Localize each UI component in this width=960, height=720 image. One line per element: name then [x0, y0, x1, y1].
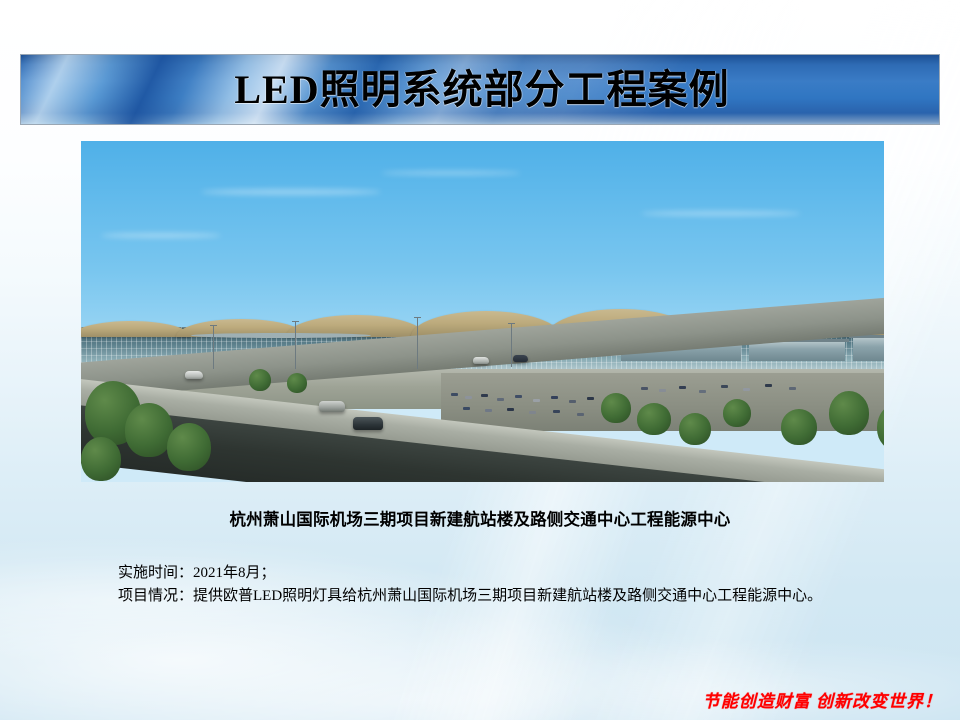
foreground-car: [319, 401, 345, 412]
body-text-block: 实施时间：2021年8月； 项目情况：提供欧普LED照明灯具给杭州萧山国际机场三…: [88, 562, 878, 608]
tree: [781, 409, 817, 445]
parked-car: [485, 409, 492, 412]
parked-car: [553, 410, 560, 413]
page-title: LED照明系统部分工程案例: [21, 70, 939, 110]
parked-car: [497, 398, 504, 401]
parked-car: [765, 384, 772, 387]
parked-car: [679, 386, 686, 389]
parked-car: [587, 397, 594, 400]
foreground-car: [473, 357, 489, 364]
parked-car: [721, 385, 728, 388]
foreground-car: [185, 371, 203, 379]
parked-car: [451, 393, 458, 396]
parked-car: [743, 388, 750, 391]
title-banner: LED照明系统部分工程案例: [20, 54, 940, 125]
parked-car: [463, 407, 470, 410]
entrance-canopy: [191, 333, 371, 338]
tree: [723, 399, 751, 427]
cloud-wisp: [641, 211, 801, 216]
cloud-wisp: [381, 171, 521, 175]
light-pole: [417, 317, 418, 369]
parked-car: [529, 411, 536, 414]
tree: [287, 373, 307, 393]
parked-car: [515, 395, 522, 398]
parked-car: [507, 408, 514, 411]
parked-car: [569, 400, 576, 403]
photo-image: [81, 141, 884, 482]
tree: [679, 413, 711, 445]
parked-car: [551, 396, 558, 399]
cloud-wisp: [201, 189, 381, 195]
project-photo: [81, 141, 884, 482]
parked-car: [481, 394, 488, 397]
tree: [601, 393, 631, 423]
distant-building: [853, 337, 884, 361]
parked-car: [699, 390, 706, 393]
parked-car: [533, 399, 540, 402]
tree: [167, 423, 211, 471]
slide-canvas: LED照明系统部分工程案例: [0, 0, 960, 720]
parked-car: [577, 413, 584, 416]
company-slogan: 节能创造财富 创新改变世界！: [703, 687, 942, 712]
photo-caption: 杭州萧山国际机场三期项目新建航站楼及路侧交通中心工程能源中心: [0, 506, 960, 530]
tree: [249, 369, 271, 391]
distant-building: [749, 341, 845, 361]
body-line-project-description: 项目情况：提供欧普LED照明灯具给杭州萧山国际机场三期项目新建航站楼及路侧交通中…: [88, 585, 878, 608]
parked-car: [465, 396, 472, 399]
tree: [637, 403, 671, 435]
body-line-implementation-time: 实施时间：2021年8月；: [88, 562, 878, 585]
tree: [125, 403, 173, 457]
foreground-car: [353, 417, 383, 430]
parked-car: [659, 389, 666, 392]
parked-car: [789, 387, 796, 390]
tree: [829, 391, 869, 435]
foreground-car: [513, 355, 528, 362]
light-pole: [511, 323, 512, 367]
light-pole: [295, 321, 296, 369]
cloud-wisp: [101, 233, 221, 238]
parked-car: [641, 387, 648, 390]
light-pole: [213, 325, 214, 369]
tree: [81, 437, 121, 481]
roof-wave: [81, 321, 191, 337]
